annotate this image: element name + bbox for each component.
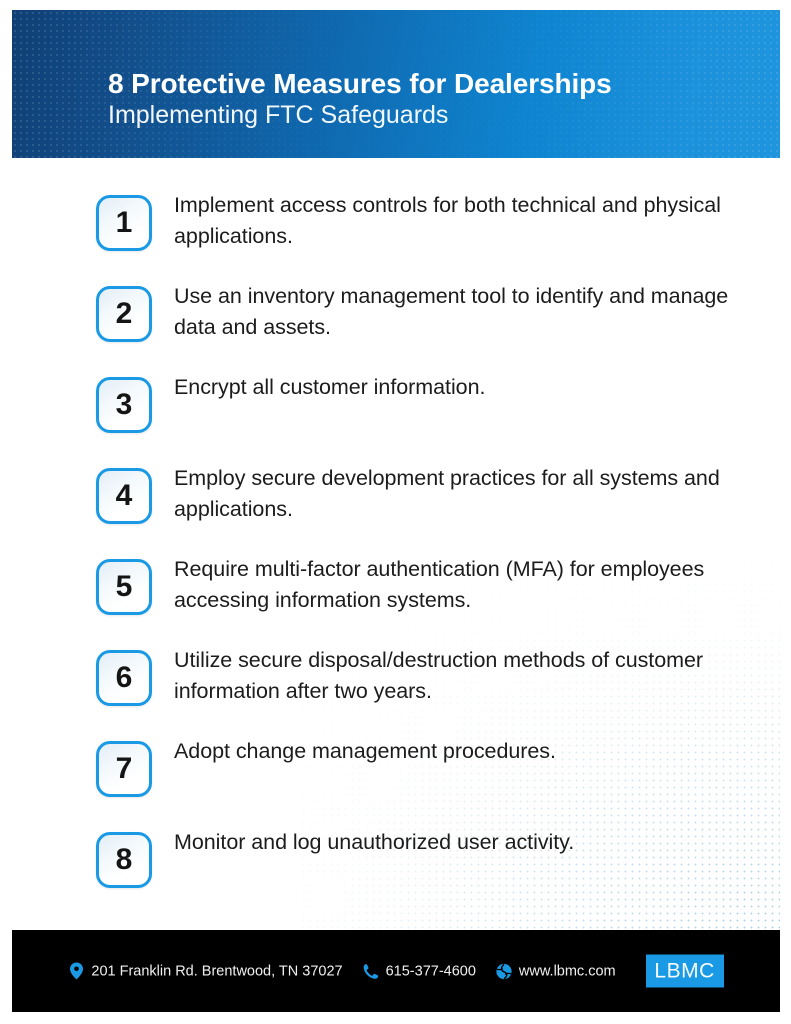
list-item: 2 Use an inventory management tool to id…	[96, 281, 736, 372]
list-item: 3 Encrypt all customer information.	[96, 372, 736, 463]
measure-number-badge: 6	[96, 650, 152, 706]
page-title: 8 Protective Measures for Dealerships	[108, 68, 756, 99]
measure-number: 1	[116, 208, 133, 238]
list-item: 5 Require multi-factor authentication (M…	[96, 554, 736, 645]
measure-text: Adopt change management procedures.	[174, 736, 736, 767]
measures-list: 1 Implement access controls for both tec…	[96, 190, 736, 918]
measure-number-badge: 3	[96, 377, 152, 433]
measure-text: Implement access controls for both techn…	[174, 190, 736, 252]
measure-number: 6	[116, 663, 133, 693]
measure-text: Use an inventory management tool to iden…	[174, 281, 736, 343]
lbmc-logo-text: LBMC	[654, 961, 714, 982]
list-item: 1 Implement access controls for both tec…	[96, 190, 736, 281]
list-item: 7 Adopt change management procedures.	[96, 736, 736, 827]
header-text-block: 8 Protective Measures for Dealerships Im…	[108, 68, 756, 130]
measure-number-badge: 7	[96, 741, 152, 797]
page-subtitle: Implementing FTC Safeguards	[108, 101, 756, 130]
globe-icon	[496, 962, 512, 980]
measure-number-badge: 1	[96, 195, 152, 251]
footer-bar: 201 Franklin Rd. Brentwood, TN 37027 615…	[12, 930, 780, 1012]
measure-number: 5	[116, 572, 133, 602]
footer-phone-text: 615-377-4600	[386, 963, 476, 979]
header-banner: 8 Protective Measures for Dealerships Im…	[12, 10, 780, 158]
footer-address: 201 Franklin Rd. Brentwood, TN 37027	[68, 962, 342, 980]
measure-text: Require multi-factor authentication (MFA…	[174, 554, 736, 616]
measure-number-badge: 5	[96, 559, 152, 615]
phone-icon	[363, 962, 379, 980]
measure-number: 2	[116, 299, 133, 329]
measure-number-badge: 2	[96, 286, 152, 342]
footer-phone[interactable]: 615-377-4600	[363, 962, 476, 980]
lbmc-logo: LBMC	[646, 955, 724, 988]
infographic-page: 8 Protective Measures for Dealerships Im…	[0, 0, 791, 1024]
measure-number-badge: 8	[96, 832, 152, 888]
footer-website[interactable]: www.lbmc.com	[496, 962, 616, 980]
footer-address-text: 201 Franklin Rd. Brentwood, TN 37027	[91, 963, 342, 979]
measure-text: Monitor and log unauthorized user activi…	[174, 827, 736, 858]
measure-number: 7	[116, 754, 133, 784]
measure-number-badge: 4	[96, 468, 152, 524]
measure-number: 3	[116, 390, 133, 420]
list-item: 8 Monitor and log unauthorized user acti…	[96, 827, 736, 918]
list-item: 4 Employ secure development practices fo…	[96, 463, 736, 554]
footer-content: 201 Franklin Rd. Brentwood, TN 37027 615…	[12, 955, 780, 988]
measure-text: Encrypt all customer information.	[174, 372, 736, 403]
measure-number: 4	[116, 481, 133, 511]
measure-text: Utilize secure disposal/destruction meth…	[174, 645, 736, 707]
measure-text: Employ secure development practices for …	[174, 463, 736, 525]
measure-number: 8	[116, 845, 133, 875]
map-pin-icon	[68, 962, 84, 980]
list-item: 6 Utilize secure disposal/destruction me…	[96, 645, 736, 736]
footer-website-text: www.lbmc.com	[519, 963, 616, 979]
